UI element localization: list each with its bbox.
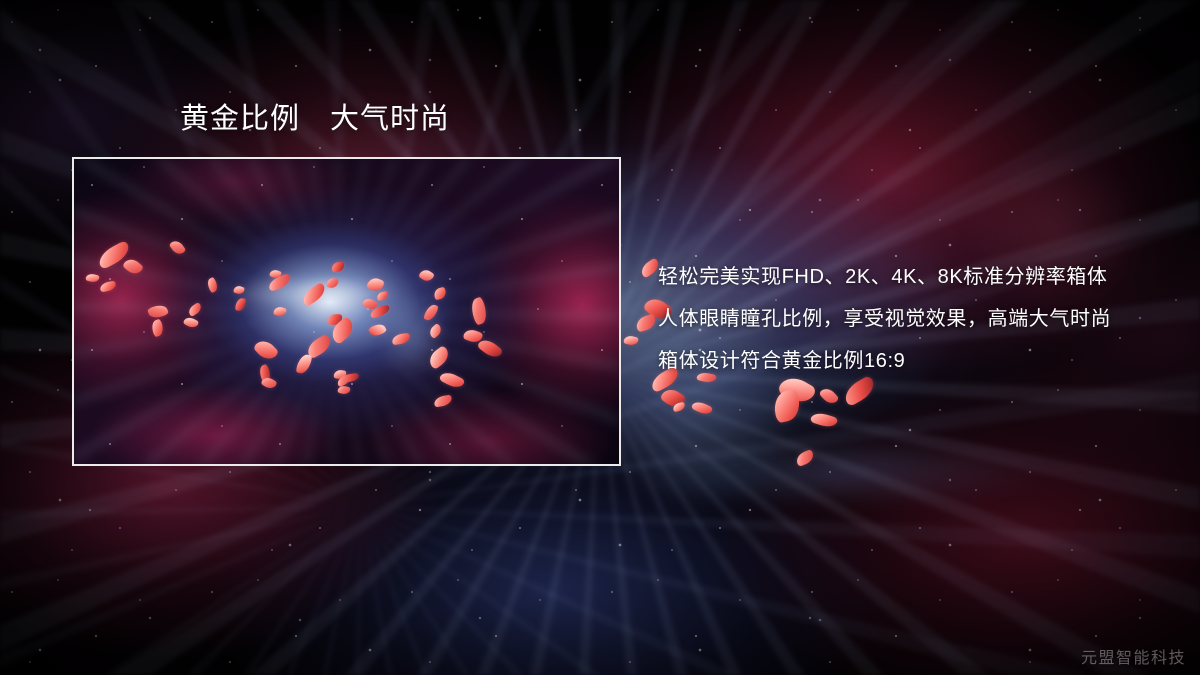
description-text-block: 轻松完美实现FHD、2K、4K、8K标准分辨率箱体 人体眼睛瞳孔比例，享受视觉效… xyxy=(658,256,1111,382)
page-title: 黄金比例 大气时尚 xyxy=(180,101,450,137)
brand-watermark: 元盟智能科技 xyxy=(1081,644,1186,668)
description-line-1: 轻松完美实现FHD、2K、4K、8K标准分辨率箱体 xyxy=(658,256,1111,298)
presentation-slide: 黄金比例 大气时尚 轻松完美实现FHD、2K、4K、8K标准分辨率箱体 人体眼睛… xyxy=(0,0,1200,675)
description-line-3: 箱体设计符合黄金比例16:9 xyxy=(658,340,1111,382)
description-line-2: 人体眼睛瞳孔比例，享受视觉效果，高端大气时尚 xyxy=(658,298,1111,340)
framed-image-panel xyxy=(72,157,621,466)
